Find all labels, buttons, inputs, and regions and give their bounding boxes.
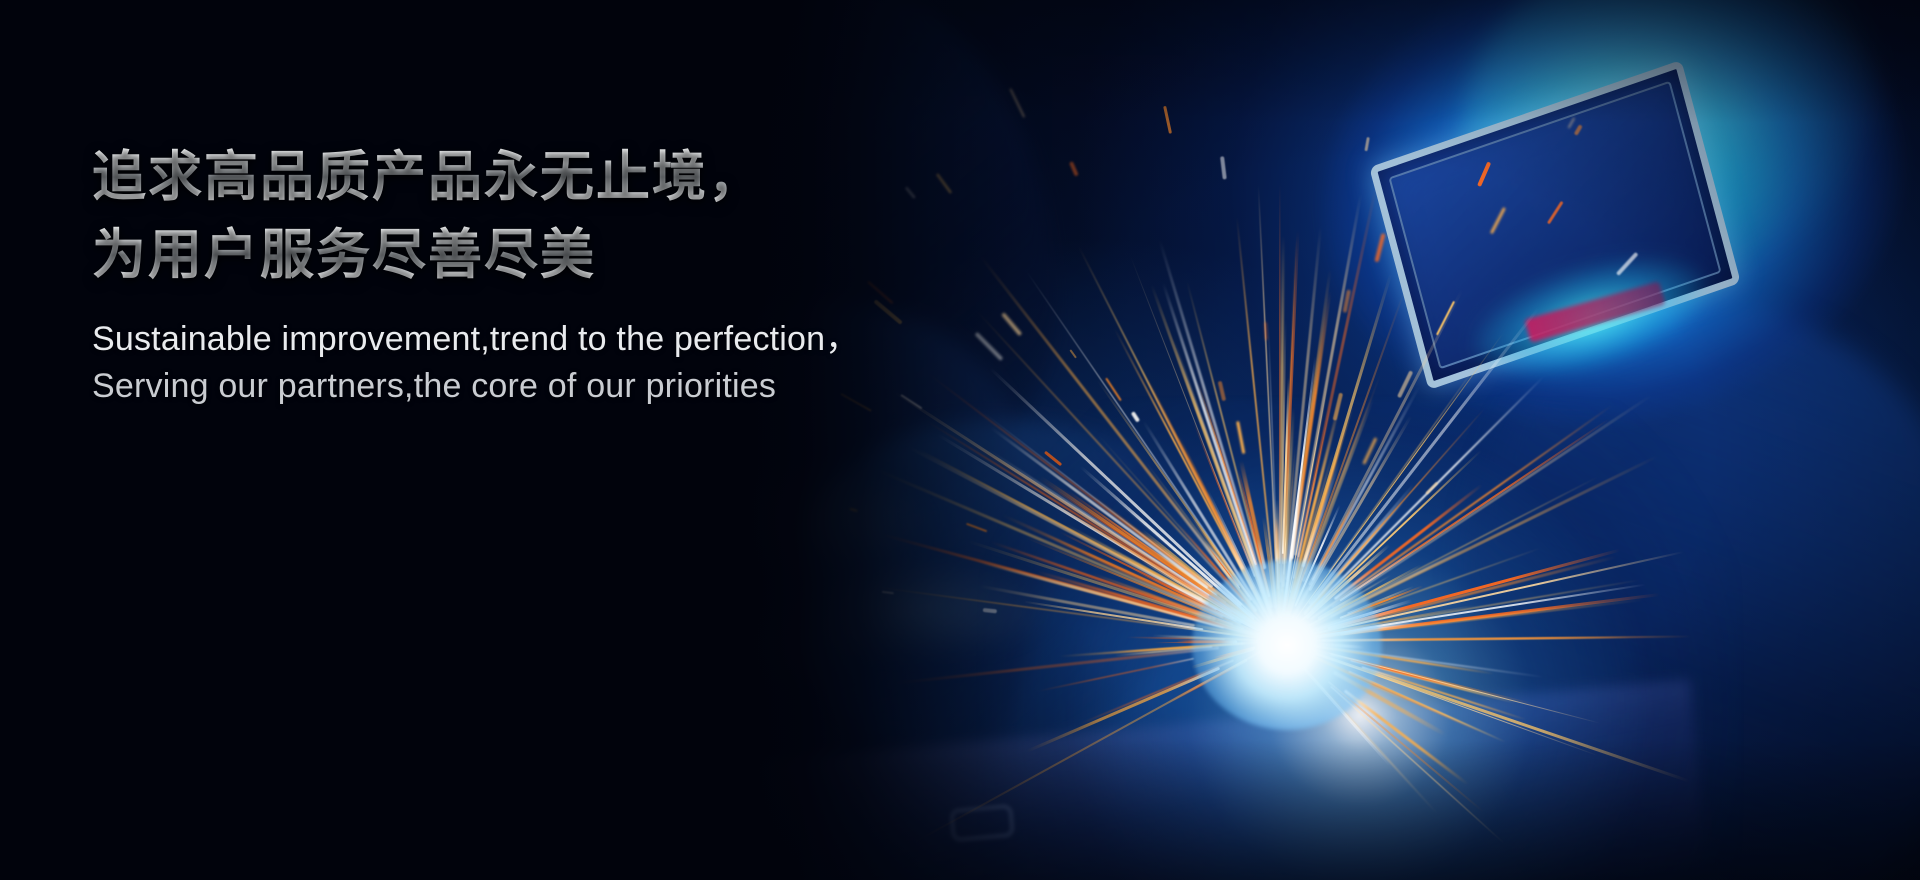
headline-line-2: 为用户服务尽善尽美 xyxy=(92,216,972,294)
spark-ember xyxy=(1364,137,1369,151)
subheadline-line-2: Serving our partners,the core of our pri… xyxy=(92,363,972,410)
spark-ember xyxy=(1069,162,1078,177)
spark-ember xyxy=(1490,207,1506,234)
spark-ember xyxy=(1616,252,1638,276)
spark-ray xyxy=(1026,666,1220,752)
spark-ray xyxy=(925,420,1251,624)
spark-ember xyxy=(1568,117,1575,129)
hero-banner: 追求高品质产品永无止境， 为用户服务尽善尽美 Sustainable impro… xyxy=(0,0,1920,880)
spark-ember xyxy=(1009,88,1025,118)
spark-ember xyxy=(1220,157,1226,180)
spark-ray xyxy=(1344,689,1469,785)
hero-copy: 追求高品质产品永无止境， 为用户服务尽善尽美 Sustainable impro… xyxy=(92,138,972,410)
spark-ember xyxy=(1574,124,1583,136)
spark-ember xyxy=(1477,161,1491,187)
spark-ember xyxy=(849,508,857,512)
welding-photo xyxy=(660,0,1920,880)
headline-line-1: 追求高品质产品永无止境， xyxy=(92,138,972,216)
spark-ember xyxy=(982,608,997,613)
spark-ember xyxy=(1374,233,1385,262)
spark-ember xyxy=(1218,381,1226,401)
spark-ember xyxy=(1436,301,1455,336)
subheadline-block: Sustainable improvement,trend to the per… xyxy=(92,316,972,410)
spark-ray xyxy=(895,647,1220,685)
spark-ray xyxy=(1329,361,1480,572)
subheadline-line-1: Sustainable improvement,trend to the per… xyxy=(92,316,972,363)
spark-ember xyxy=(1070,350,1077,359)
spark-ember xyxy=(1236,421,1245,454)
spark-field xyxy=(660,0,1920,880)
spark-ember xyxy=(1547,201,1564,224)
spark-ember xyxy=(1163,106,1172,134)
spark-ember xyxy=(1001,312,1022,336)
spark-ember xyxy=(1264,322,1267,340)
spark-ember xyxy=(966,523,987,533)
welding-arc-core xyxy=(1192,560,1382,730)
spark-ember xyxy=(881,591,893,594)
spark-ember xyxy=(1131,412,1140,423)
